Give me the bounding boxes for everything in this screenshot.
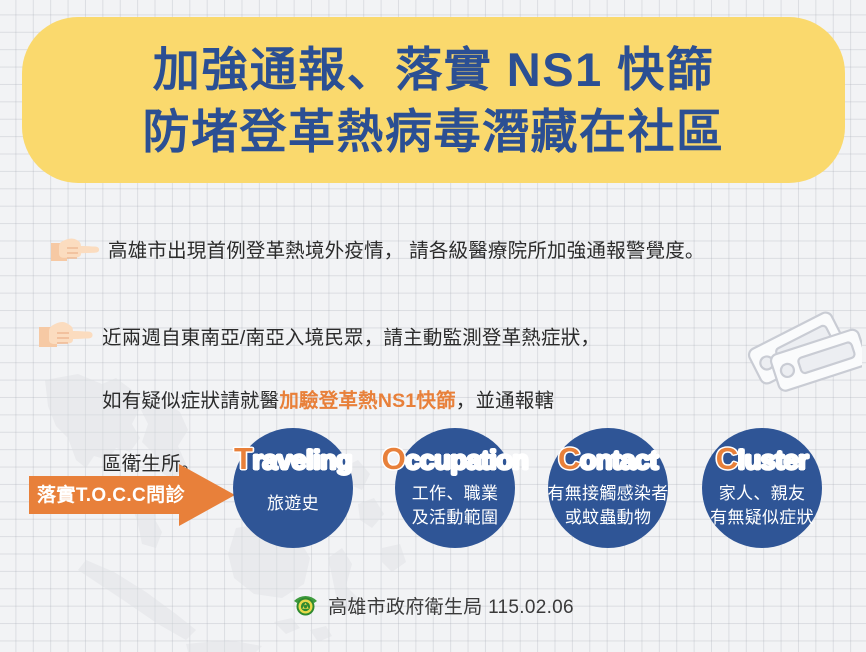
footer: 高雄市政府衛生局 115.02.06 bbox=[0, 592, 866, 619]
title-line-2: 防堵登革熱病毒潛藏在社區 bbox=[143, 101, 725, 164]
kaohsiung-health-bureau-logo-icon bbox=[292, 592, 319, 619]
rapid-test-kit-icon bbox=[742, 292, 862, 408]
tocc-item-traveling[interactable]: Traveling 旅遊史 bbox=[208, 424, 378, 556]
tocc-item-cluster[interactable]: Cluster 家人、親友 有無疑似症狀 bbox=[677, 424, 847, 556]
bullet-2-line-1: 近兩週自東南亞/南亞入境民眾，請主動監測登革熱症狀， bbox=[102, 323, 600, 355]
tocc-section: 落實T.O.C.C問診 Traveling 旅遊史 Occupation 工作、… bbox=[0, 424, 866, 556]
tocc-desc-cluster: 家人、親友 有無疑似症狀 bbox=[677, 482, 847, 530]
tocc-desc-traveling: 旅遊史 bbox=[208, 492, 378, 516]
tocc-title-rest: ontact bbox=[580, 445, 658, 475]
bullet-text-1: 高雄市出現首例登革熱境外疫情， 請各級醫療院所加強通報警覺度。 bbox=[108, 234, 705, 268]
tocc-title-traveling: Traveling bbox=[208, 441, 378, 477]
title-line-1: 加強通報、落實 NS1 快篩 bbox=[153, 39, 715, 102]
tocc-desc-contact: 有無接觸感染者 或蚊蟲動物 bbox=[523, 482, 693, 530]
pointing-hand-icon bbox=[48, 234, 100, 268]
tocc-arrow-label: 落實T.O.C.C問診 bbox=[36, 480, 186, 507]
tocc-initial: T bbox=[234, 441, 252, 476]
tocc-initial: O bbox=[382, 441, 406, 476]
tocc-initial: C bbox=[716, 441, 738, 476]
pointing-hand-icon bbox=[36, 317, 94, 355]
tocc-title-occupation: Occupation bbox=[370, 441, 540, 477]
bullet-2-highlight: 加驗登革熱NS1快篩 bbox=[279, 390, 455, 412]
tocc-item-contact[interactable]: Contact 有無接觸感染者 或蚊蟲動物 bbox=[523, 424, 693, 556]
tocc-title-rest: raveling bbox=[252, 445, 352, 475]
tocc-title-contact: Contact bbox=[523, 441, 693, 477]
footer-text: 高雄市政府衛生局 115.02.06 bbox=[328, 592, 574, 619]
tocc-title-rest: luster bbox=[738, 445, 809, 475]
bullet-item-1: 高雄市出現首例登革熱境外疫情， 請各級醫療院所加強通報警覺度。 bbox=[48, 234, 705, 268]
tocc-desc-occupation: 工作、職業 及活動範圍 bbox=[370, 482, 540, 530]
title-banner: 加強通報、落實 NS1 快篩 防堵登革熱病毒潛藏在社區 bbox=[22, 17, 845, 183]
bullet-2-prefix: 如有疑似症狀請就醫 bbox=[102, 390, 279, 412]
tocc-item-occupation[interactable]: Occupation 工作、職業 及活動範圍 bbox=[370, 424, 540, 556]
tocc-initial: C bbox=[558, 441, 580, 476]
bullet-2-suffix: ，並通報轄 bbox=[456, 390, 555, 412]
tocc-title-cluster: Cluster bbox=[677, 441, 847, 477]
bullet-2-line-2: 如有疑似症狀請就醫加驗登革熱NS1快篩，並通報轄 bbox=[102, 386, 600, 418]
tocc-title-rest: ccupation bbox=[405, 445, 528, 475]
